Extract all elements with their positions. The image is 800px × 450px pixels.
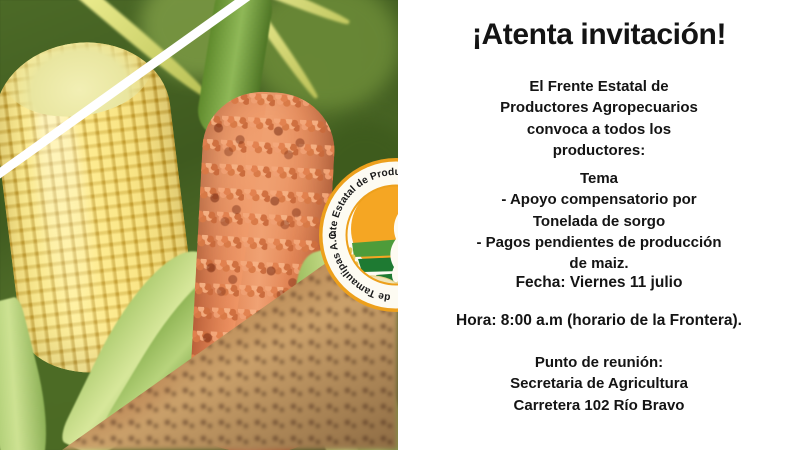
- event-time: Hora: 8:00 a.m (horario de la Frontera).: [406, 310, 792, 332]
- topic-paragraph: Tema - Apoyo compensatorio por Tonelada …: [406, 168, 792, 274]
- page-title: ¡Atenta invitación!: [398, 18, 800, 52]
- poster-root: Frente Estatal de Productores Agropecuar…: [0, 0, 800, 450]
- intro-line: Productores Agropecuarios: [406, 97, 792, 118]
- topic-item: - Pagos pendientes de producción: [406, 232, 792, 253]
- intro-paragraph: El Frente Estatal de Productores Agropec…: [406, 76, 792, 161]
- venue-line: Carretera 102 Río Bravo: [406, 395, 792, 416]
- intro-line: convoca a todos los: [406, 119, 792, 140]
- intro-line: El Frente Estatal de: [406, 76, 792, 97]
- venue-heading: Punto de reunión:: [406, 352, 792, 373]
- venue-line: Secretaria de Agricultura: [406, 373, 792, 394]
- topic-heading: Tema: [406, 168, 792, 189]
- event-date: Fecha: Viernes 11 julio: [406, 272, 792, 294]
- topic-item: - Apoyo compensatorio por: [406, 189, 792, 210]
- venue-paragraph: Punto de reunión: Secretaria de Agricult…: [406, 352, 792, 416]
- topic-item: Tonelada de sorgo: [406, 211, 792, 232]
- intro-line: productores:: [406, 140, 792, 161]
- invitation-text-panel: ¡Atenta invitación! El Frente Estatal de…: [398, 0, 800, 450]
